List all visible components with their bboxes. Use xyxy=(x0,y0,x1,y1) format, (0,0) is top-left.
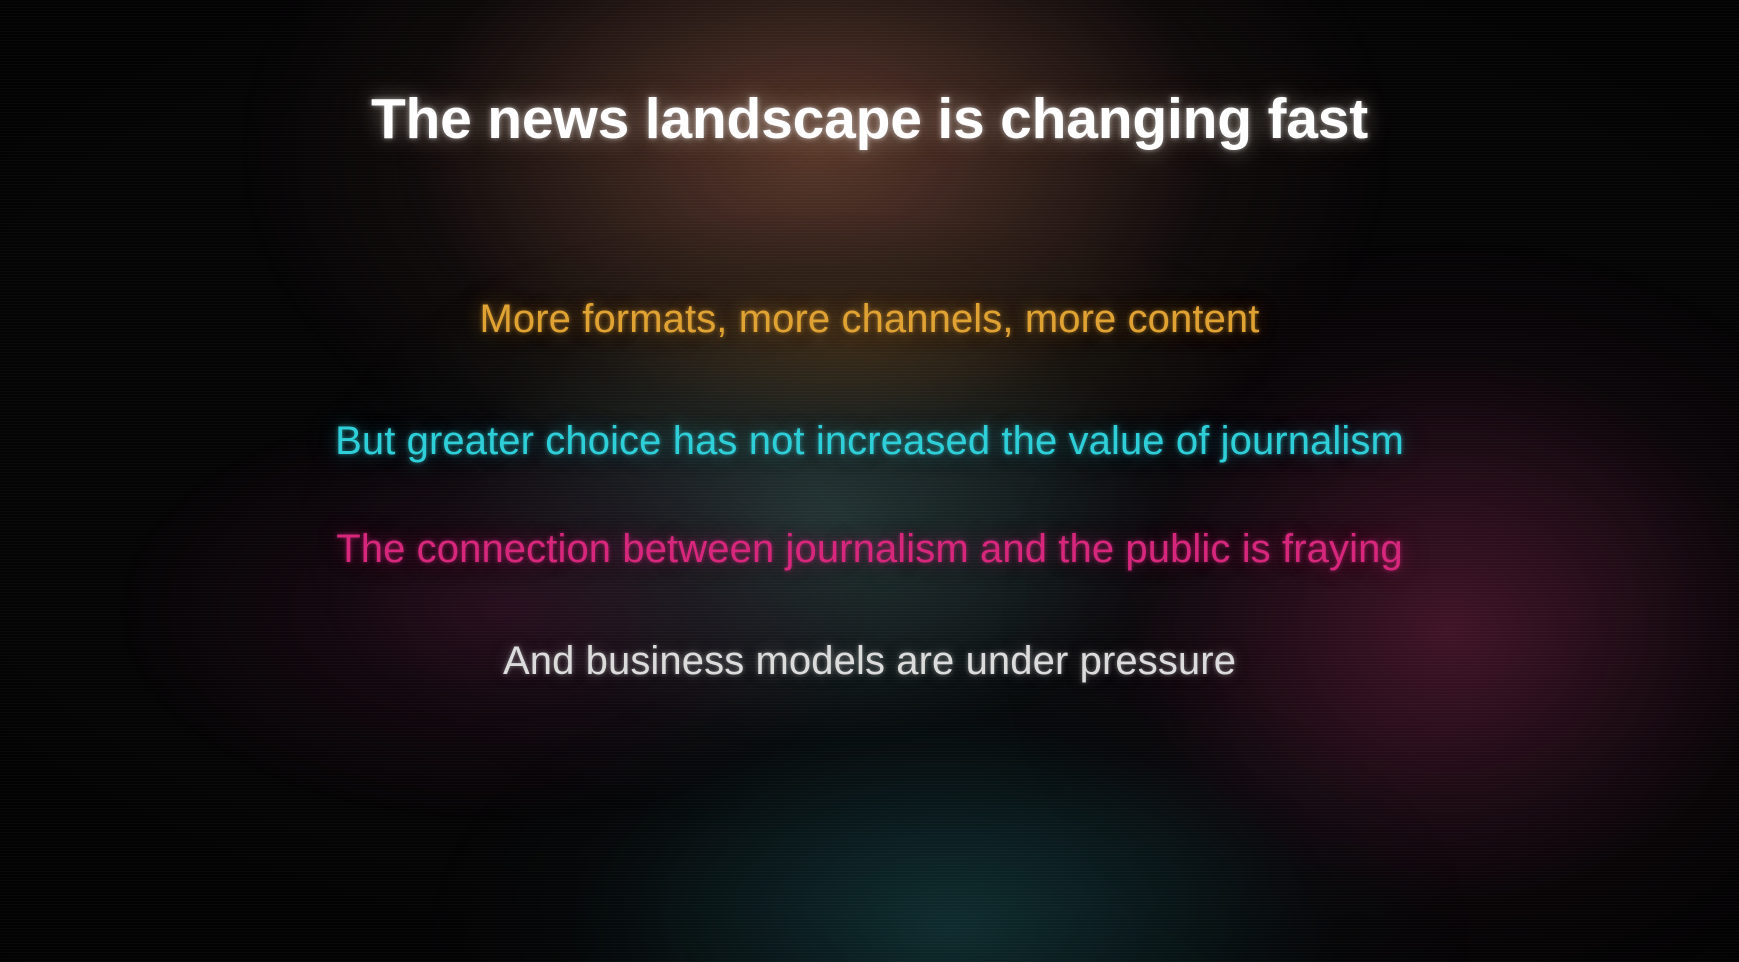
slide-bullet-4: And business models are under pressure xyxy=(0,639,1739,684)
slide-bullet-1: More formats, more channels, more conten… xyxy=(0,297,1739,342)
slide-content: The news landscape is changing fast More… xyxy=(0,0,1739,962)
slide-bullet-2: But greater choice has not increased the… xyxy=(0,419,1739,464)
slide-headline: The news landscape is changing fast xyxy=(0,86,1739,152)
slide-bullet-3: The connection between journalism and th… xyxy=(0,527,1739,572)
slide-canvas: The news landscape is changing fast More… xyxy=(0,0,1739,962)
